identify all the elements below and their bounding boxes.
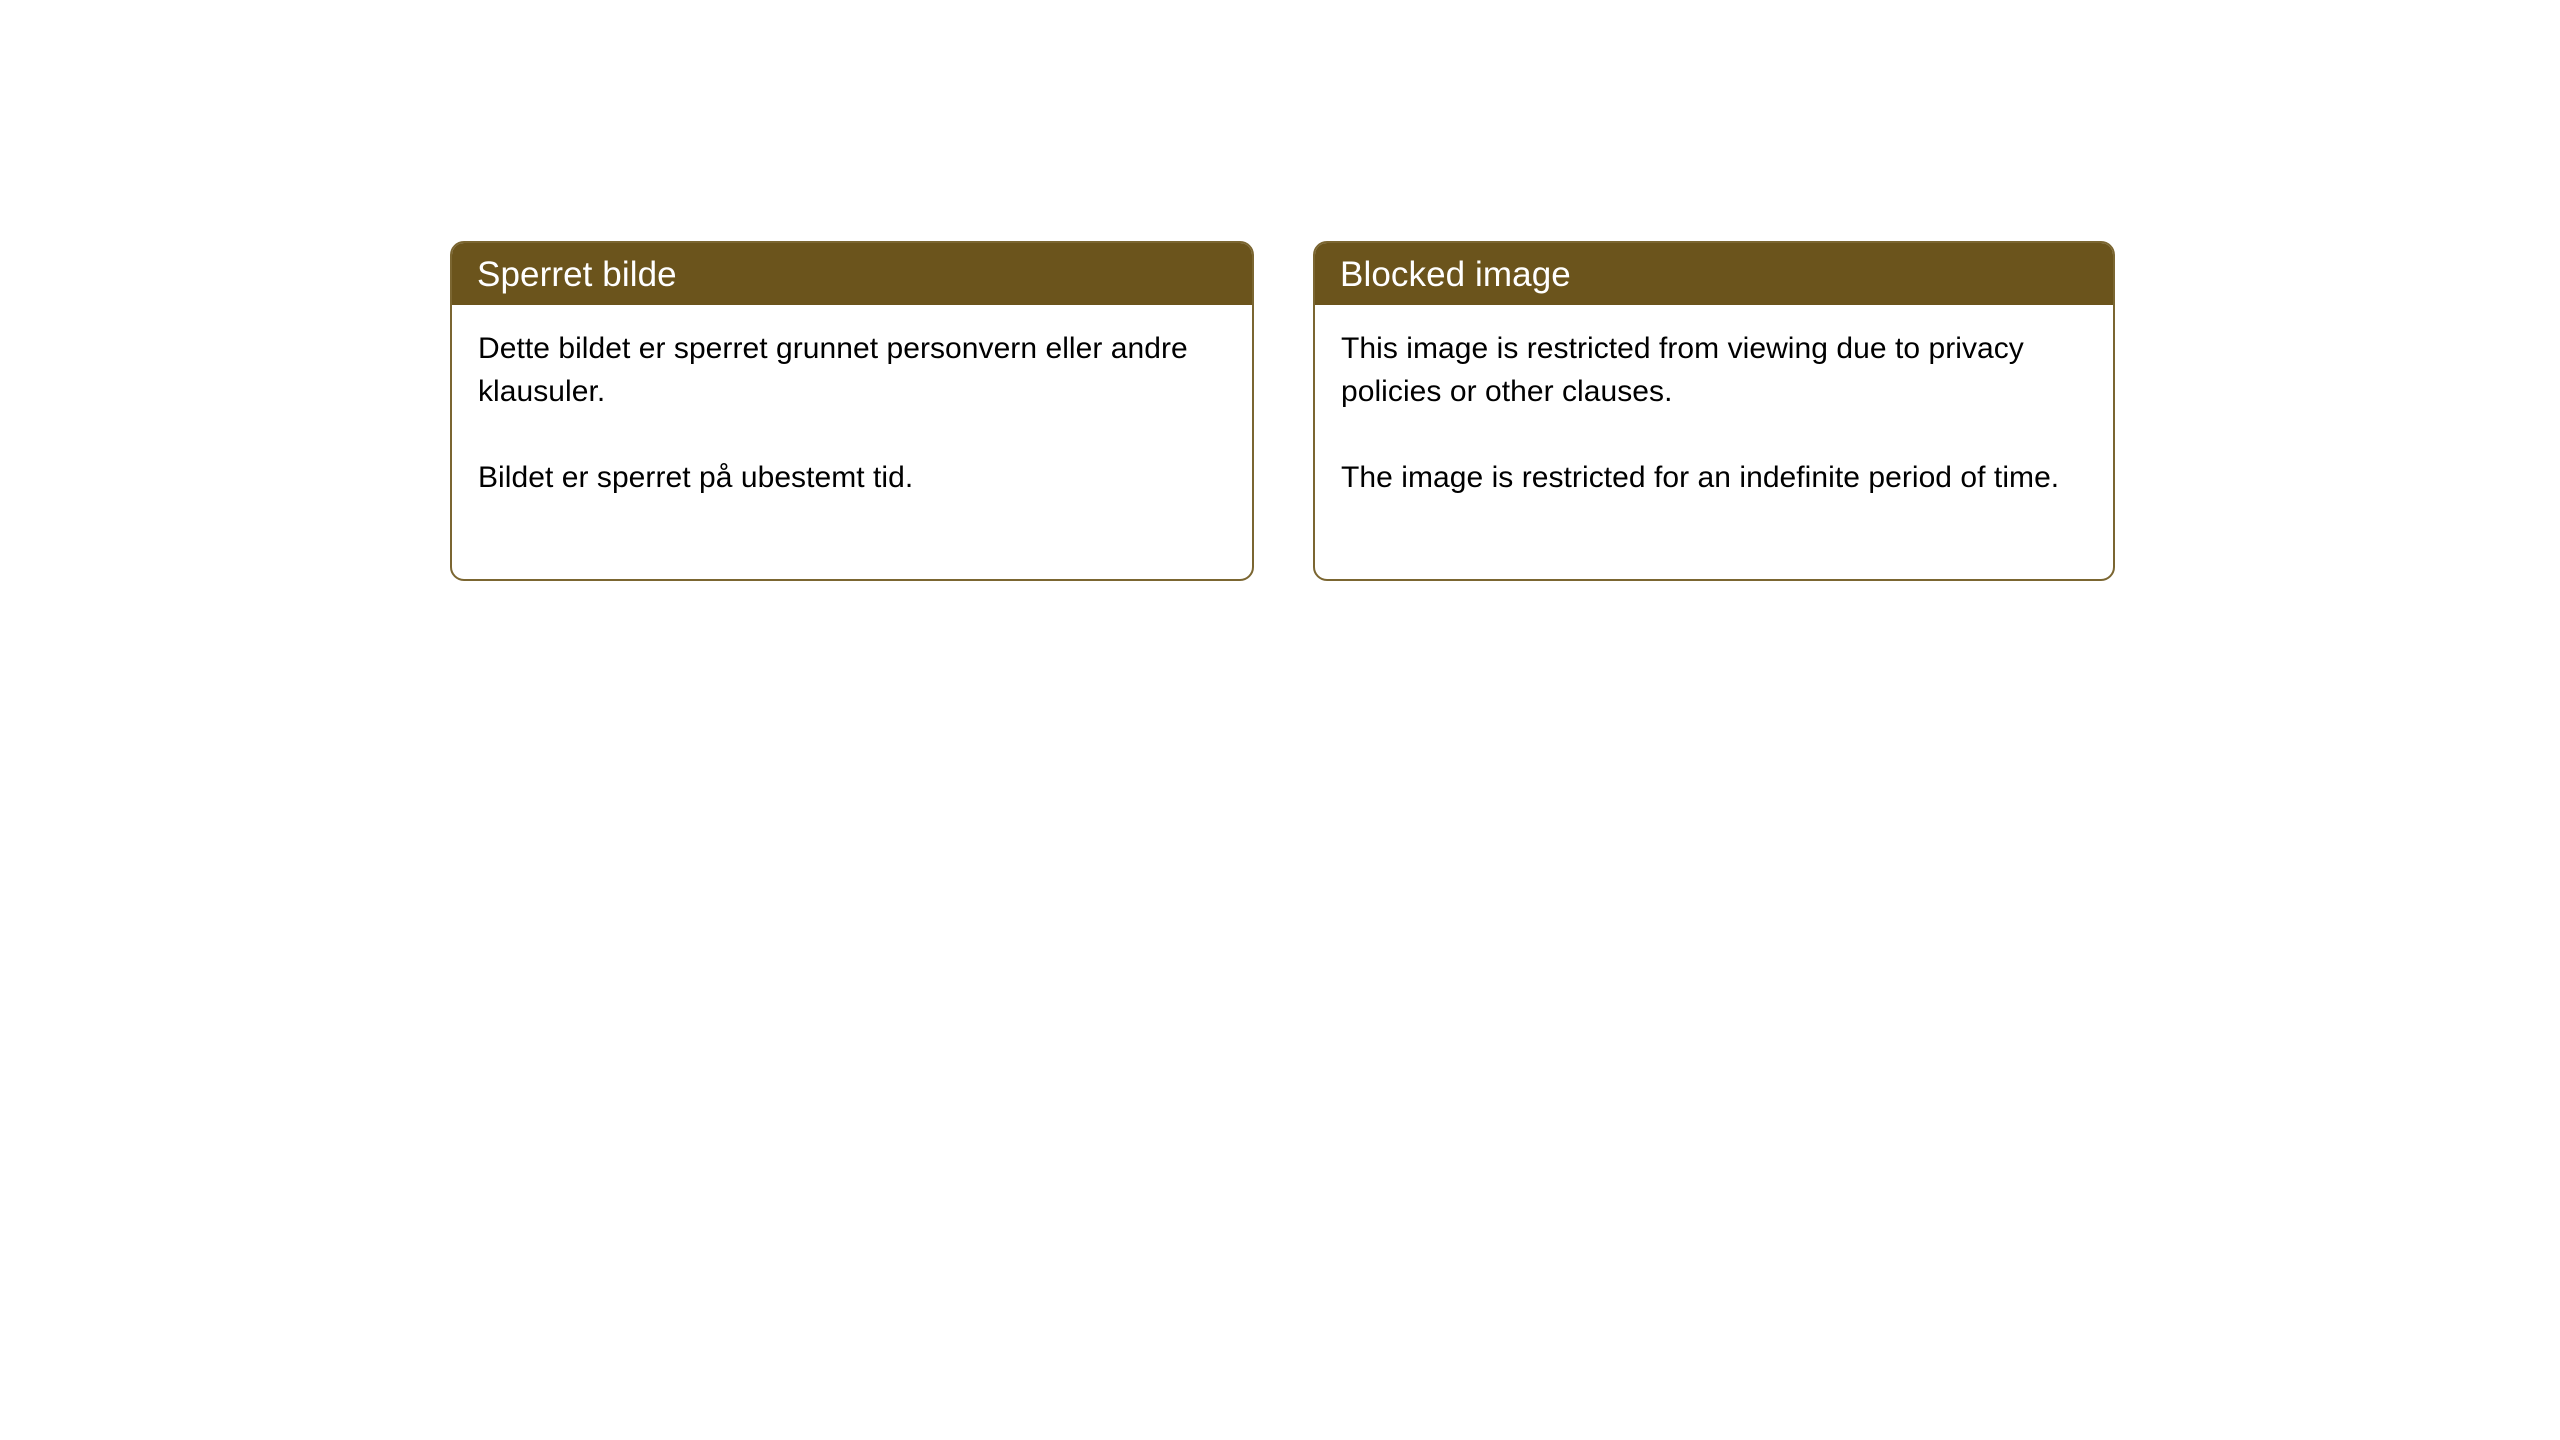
card-paragraph-primary-norwegian: Dette bildet er sperret grunnet personve… — [478, 327, 1226, 413]
card-body-norwegian: Dette bildet er sperret grunnet personve… — [452, 305, 1252, 499]
card-title-english: Blocked image — [1340, 257, 1571, 292]
blocked-image-notice-card-norwegian: Sperret bilde Dette bildet er sperret gr… — [450, 241, 1254, 581]
card-title-norwegian: Sperret bilde — [477, 257, 677, 292]
card-paragraph-secondary-english: The image is restricted for an indefinit… — [1341, 456, 2087, 499]
paragraph-spacer — [478, 413, 1226, 456]
card-paragraph-primary-english: This image is restricted from viewing du… — [1341, 327, 2087, 413]
paragraph-spacer — [1341, 413, 2087, 456]
card-paragraph-secondary-norwegian: Bildet er sperret på ubestemt tid. — [478, 456, 1226, 499]
page-canvas: Sperret bilde Dette bildet er sperret gr… — [0, 0, 2560, 1440]
card-body-english: This image is restricted from viewing du… — [1315, 305, 2113, 499]
card-header-english: Blocked image — [1315, 243, 2113, 305]
blocked-image-notice-card-english: Blocked image This image is restricted f… — [1313, 241, 2115, 581]
card-header-norwegian: Sperret bilde — [452, 243, 1252, 305]
